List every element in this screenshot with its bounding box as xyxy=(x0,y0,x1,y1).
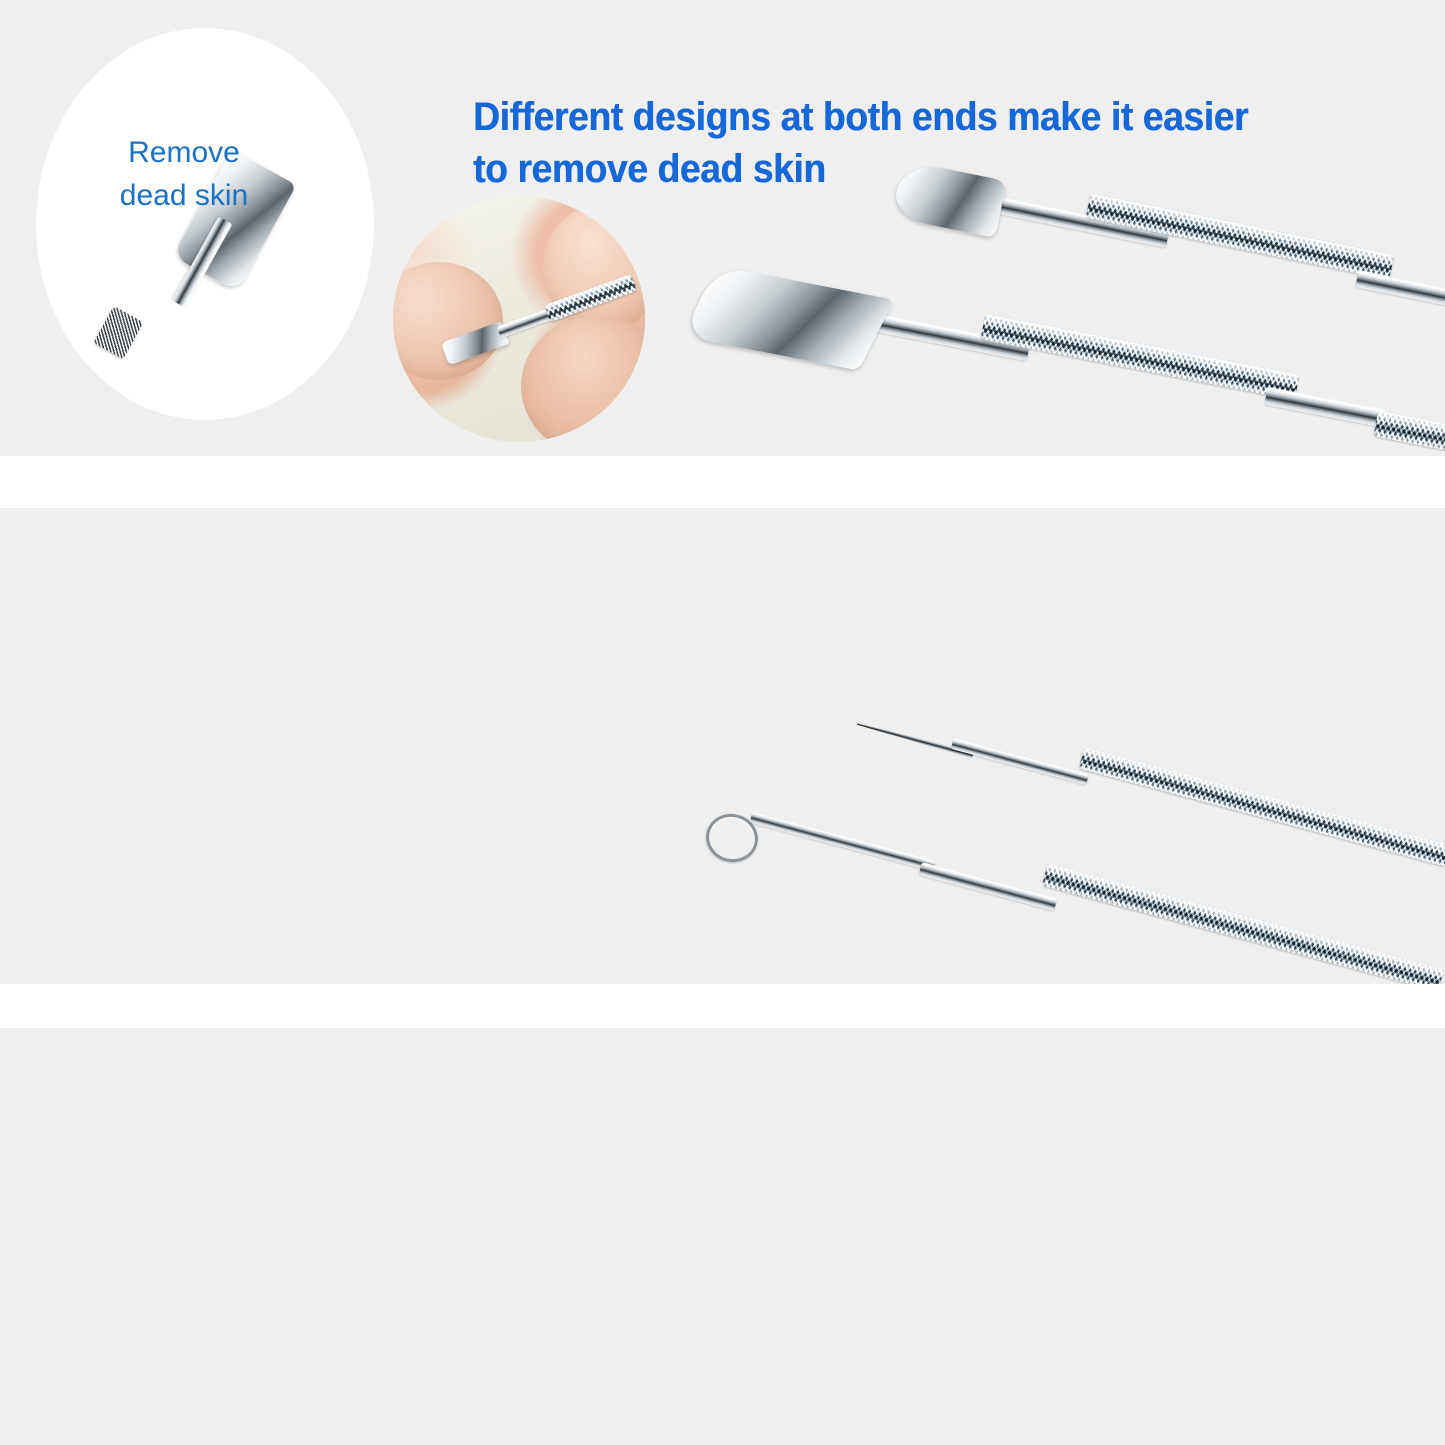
product-image-needle-and-loop xyxy=(690,708,1445,978)
panel-dig-out-deep-dirt: Very sharp Can dig out deep dirt to prev… xyxy=(0,508,1445,984)
tool-knurled-grip xyxy=(1042,863,1444,984)
callout-remove-dead-skin: Remove dead skin xyxy=(36,28,374,420)
hand-holding-cuticle-pusher-photo xyxy=(393,196,645,442)
panel-remove-dead-skin: Remove dead skin Different designs at bo… xyxy=(0,0,1445,456)
infographic-page: Remove dead skin Different designs at bo… xyxy=(0,0,1445,1445)
loop-ring-extractor-tool xyxy=(690,806,1445,976)
tool-shaft xyxy=(750,812,936,872)
tool-shaft xyxy=(951,738,1089,785)
tool-grit-tip xyxy=(93,306,143,359)
tool-knurled-grip-end xyxy=(1373,411,1445,454)
tool-shaft-mid xyxy=(919,862,1058,911)
callout-label: Remove dead skin xyxy=(88,132,280,217)
tool-knurled-grip xyxy=(980,314,1299,401)
product-image-cuticle-pushers xyxy=(690,150,1445,456)
tool-shaft-lower xyxy=(1264,387,1385,428)
panel-1-heading: Different designs at both ends make it e… xyxy=(473,91,1366,195)
panel-storage-box: This box better stores all tools and pre… xyxy=(0,1028,1445,1445)
flat-chisel-tip-cuticle-pusher xyxy=(690,268,1445,456)
tool-flat-chisel-tip xyxy=(682,266,895,371)
